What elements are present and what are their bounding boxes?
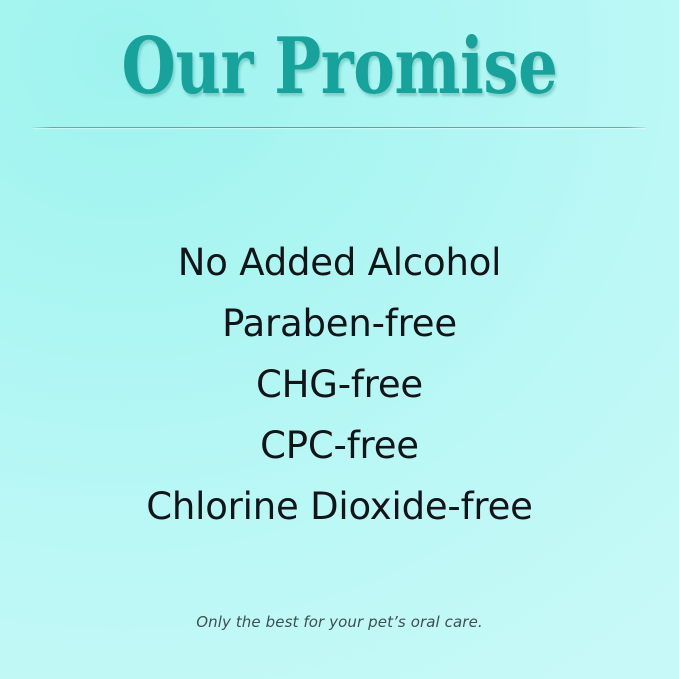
page-title: Our Promise [68,28,611,106]
list-item: No Added Alcohol [0,232,679,293]
title-block: Our Promise [0,28,679,106]
list-item: CPC-free [0,415,679,476]
header-divider [33,127,646,130]
claims-list: No Added Alcohol Paraben-free CHG-free C… [0,232,679,537]
list-item: Paraben-free [0,293,679,354]
list-item: Chlorine Dioxide-free [0,476,679,537]
footer-tagline: Only the best for your pet’s oral care. [0,612,679,632]
divider-line [33,127,646,128]
list-item: CHG-free [0,354,679,415]
our-promise-card: Our Promise No Added Alcohol Paraben-fre… [0,0,679,679]
